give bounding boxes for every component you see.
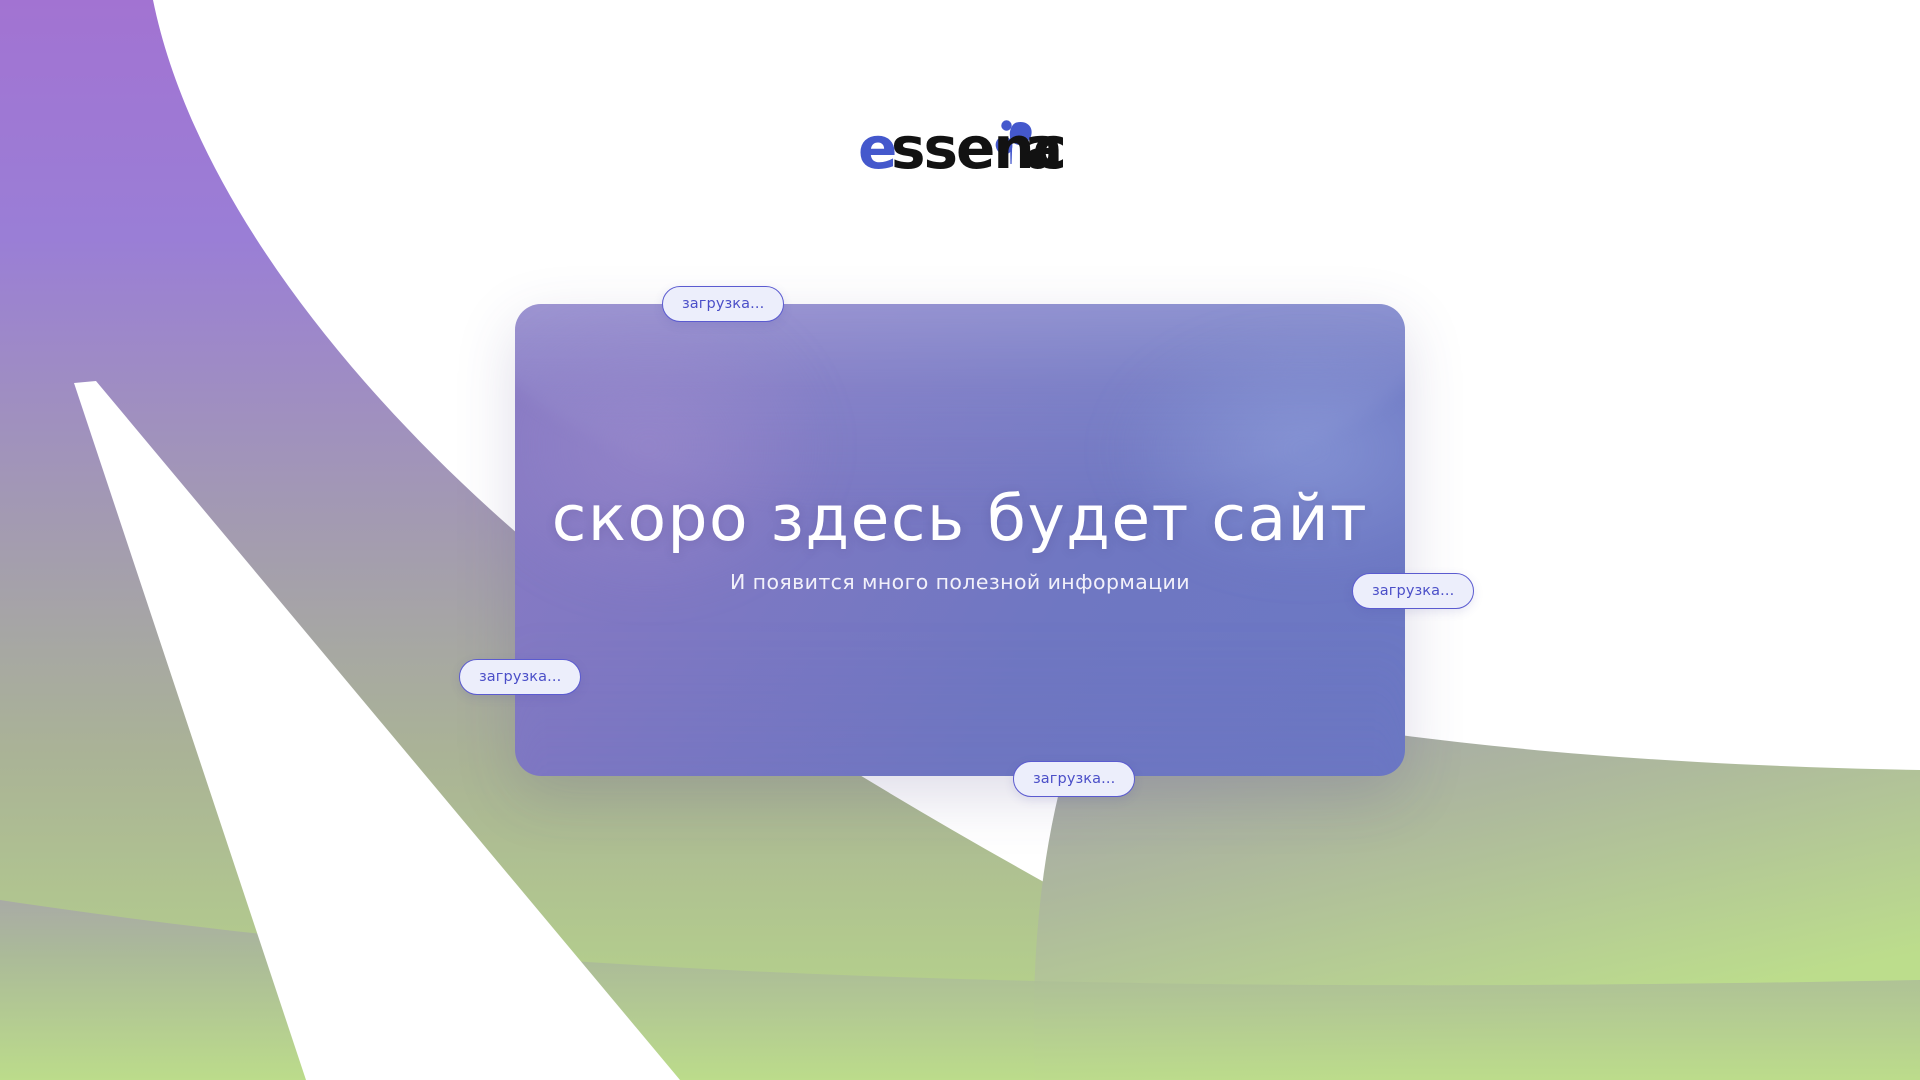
logo-letter-a: a	[1024, 116, 1061, 178]
loading-pill-1[interactable]: загрузка...	[662, 286, 784, 322]
loading-pill-4[interactable]: загрузка...	[1013, 761, 1135, 797]
loading-pill-2[interactable]: загрузка...	[1352, 573, 1474, 609]
blob-left-shape	[0, 0, 150, 380]
hero-headline: скоро здесь будет сайт	[552, 486, 1368, 553]
loading-pill-3[interactable]: загрузка...	[459, 659, 581, 695]
blob-bottom-green	[0, 900, 1920, 1080]
hero-card: скоро здесь будет сайт И появится много …	[515, 304, 1405, 776]
hero-card-content: скоро здесь будет сайт И появится много …	[515, 304, 1405, 776]
essencia-logo-svg: e ssenc a	[858, 116, 1063, 178]
page-root: e ssenc a скоро здесь будет сайт И появи…	[0, 0, 1920, 1080]
hero-subtitle: И появится много полезной информации	[730, 570, 1190, 594]
white-bottom-right-cut	[1036, 1010, 1920, 1080]
brand-logo[interactable]: e ssenc a	[0, 116, 1920, 178]
logo-letter-e: e	[858, 116, 895, 178]
